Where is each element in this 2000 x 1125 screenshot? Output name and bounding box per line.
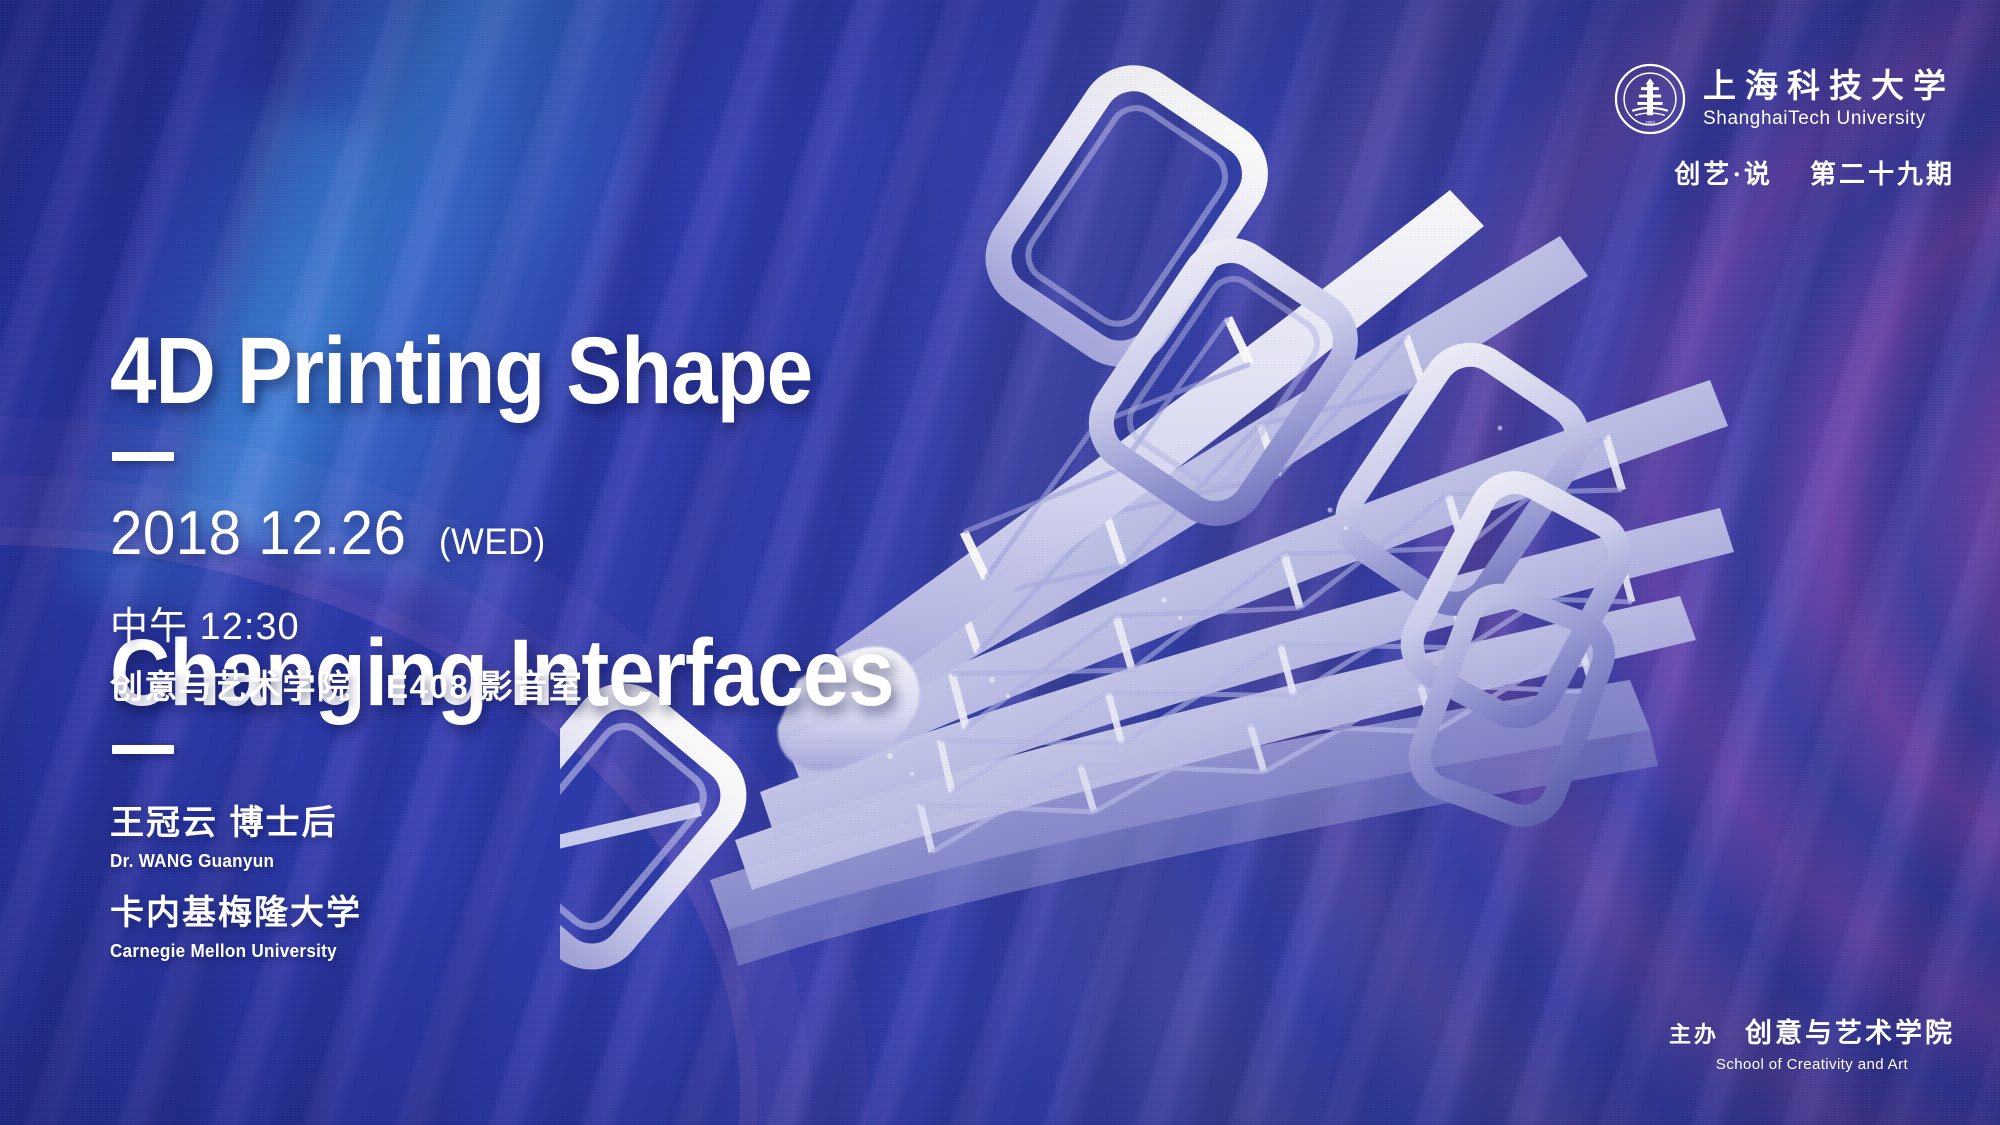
event-weekday: (WED) [439, 521, 546, 563]
organizer-line: 主办 创意与艺术学院 [1669, 1011, 1955, 1050]
series-number: 第二十九期 [1810, 160, 1955, 189]
organizer-label: 主办 [1669, 1017, 1719, 1049]
title-line-1: 4D Printing Shape [110, 321, 894, 422]
event-date-row: 2018 12.26 (WED) [110, 498, 553, 569]
organizer-name-cn: 创意与艺术学院 [1745, 1011, 1955, 1050]
event-date: 2018 12.26 [110, 498, 406, 569]
divider-rule-middle [112, 745, 174, 754]
series-title: 创艺·说 [1674, 160, 1773, 189]
event-poster: 4D Printing Shape Changing Interfaces 20… [0, 0, 2000, 1125]
event-time: 中午 12:30 [110, 595, 300, 650]
university-name-cn: 上海科技大学 [1703, 68, 1955, 104]
university-name-row: 1903 上海科技大学 ShanghaiTech University [1613, 62, 1955, 136]
speaker-name-cn: 王冠云 博士后 [110, 795, 337, 844]
university-lockup: 1903 上海科技大学 ShanghaiTech University 创艺·说… [1613, 62, 1955, 191]
speaker-block: 王冠云 博士后 Dr. WANG Guanyun [110, 795, 337, 872]
divider-rule-top [112, 452, 174, 461]
university-name-en: ShanghaiTech University [1703, 108, 1955, 130]
lecture-series-label: 创艺·说 第二十九期 [1613, 154, 1955, 191]
organizer-block: 主办 创意与艺术学院 School of Creativity and Art [1669, 1011, 1955, 1073]
shanghaitech-seal-icon: 1903 [1613, 62, 1687, 136]
event-venue: 创意与艺术学院 E408 影音室 [110, 660, 583, 708]
university-names: 上海科技大学 ShanghaiTech University [1703, 68, 1955, 130]
affiliation-cn: 卡内基梅隆大学 [110, 885, 362, 934]
svg-text:1903: 1903 [1645, 120, 1655, 125]
speaker-name-en: Dr. WANG Guanyun [110, 851, 326, 872]
affiliation-en: Carnegie Mellon University [110, 941, 349, 962]
affiliation-block: 卡内基梅隆大学 Carnegie Mellon University [110, 885, 362, 962]
organizer-name-en: School of Creativity and Art [1669, 1056, 1955, 1073]
